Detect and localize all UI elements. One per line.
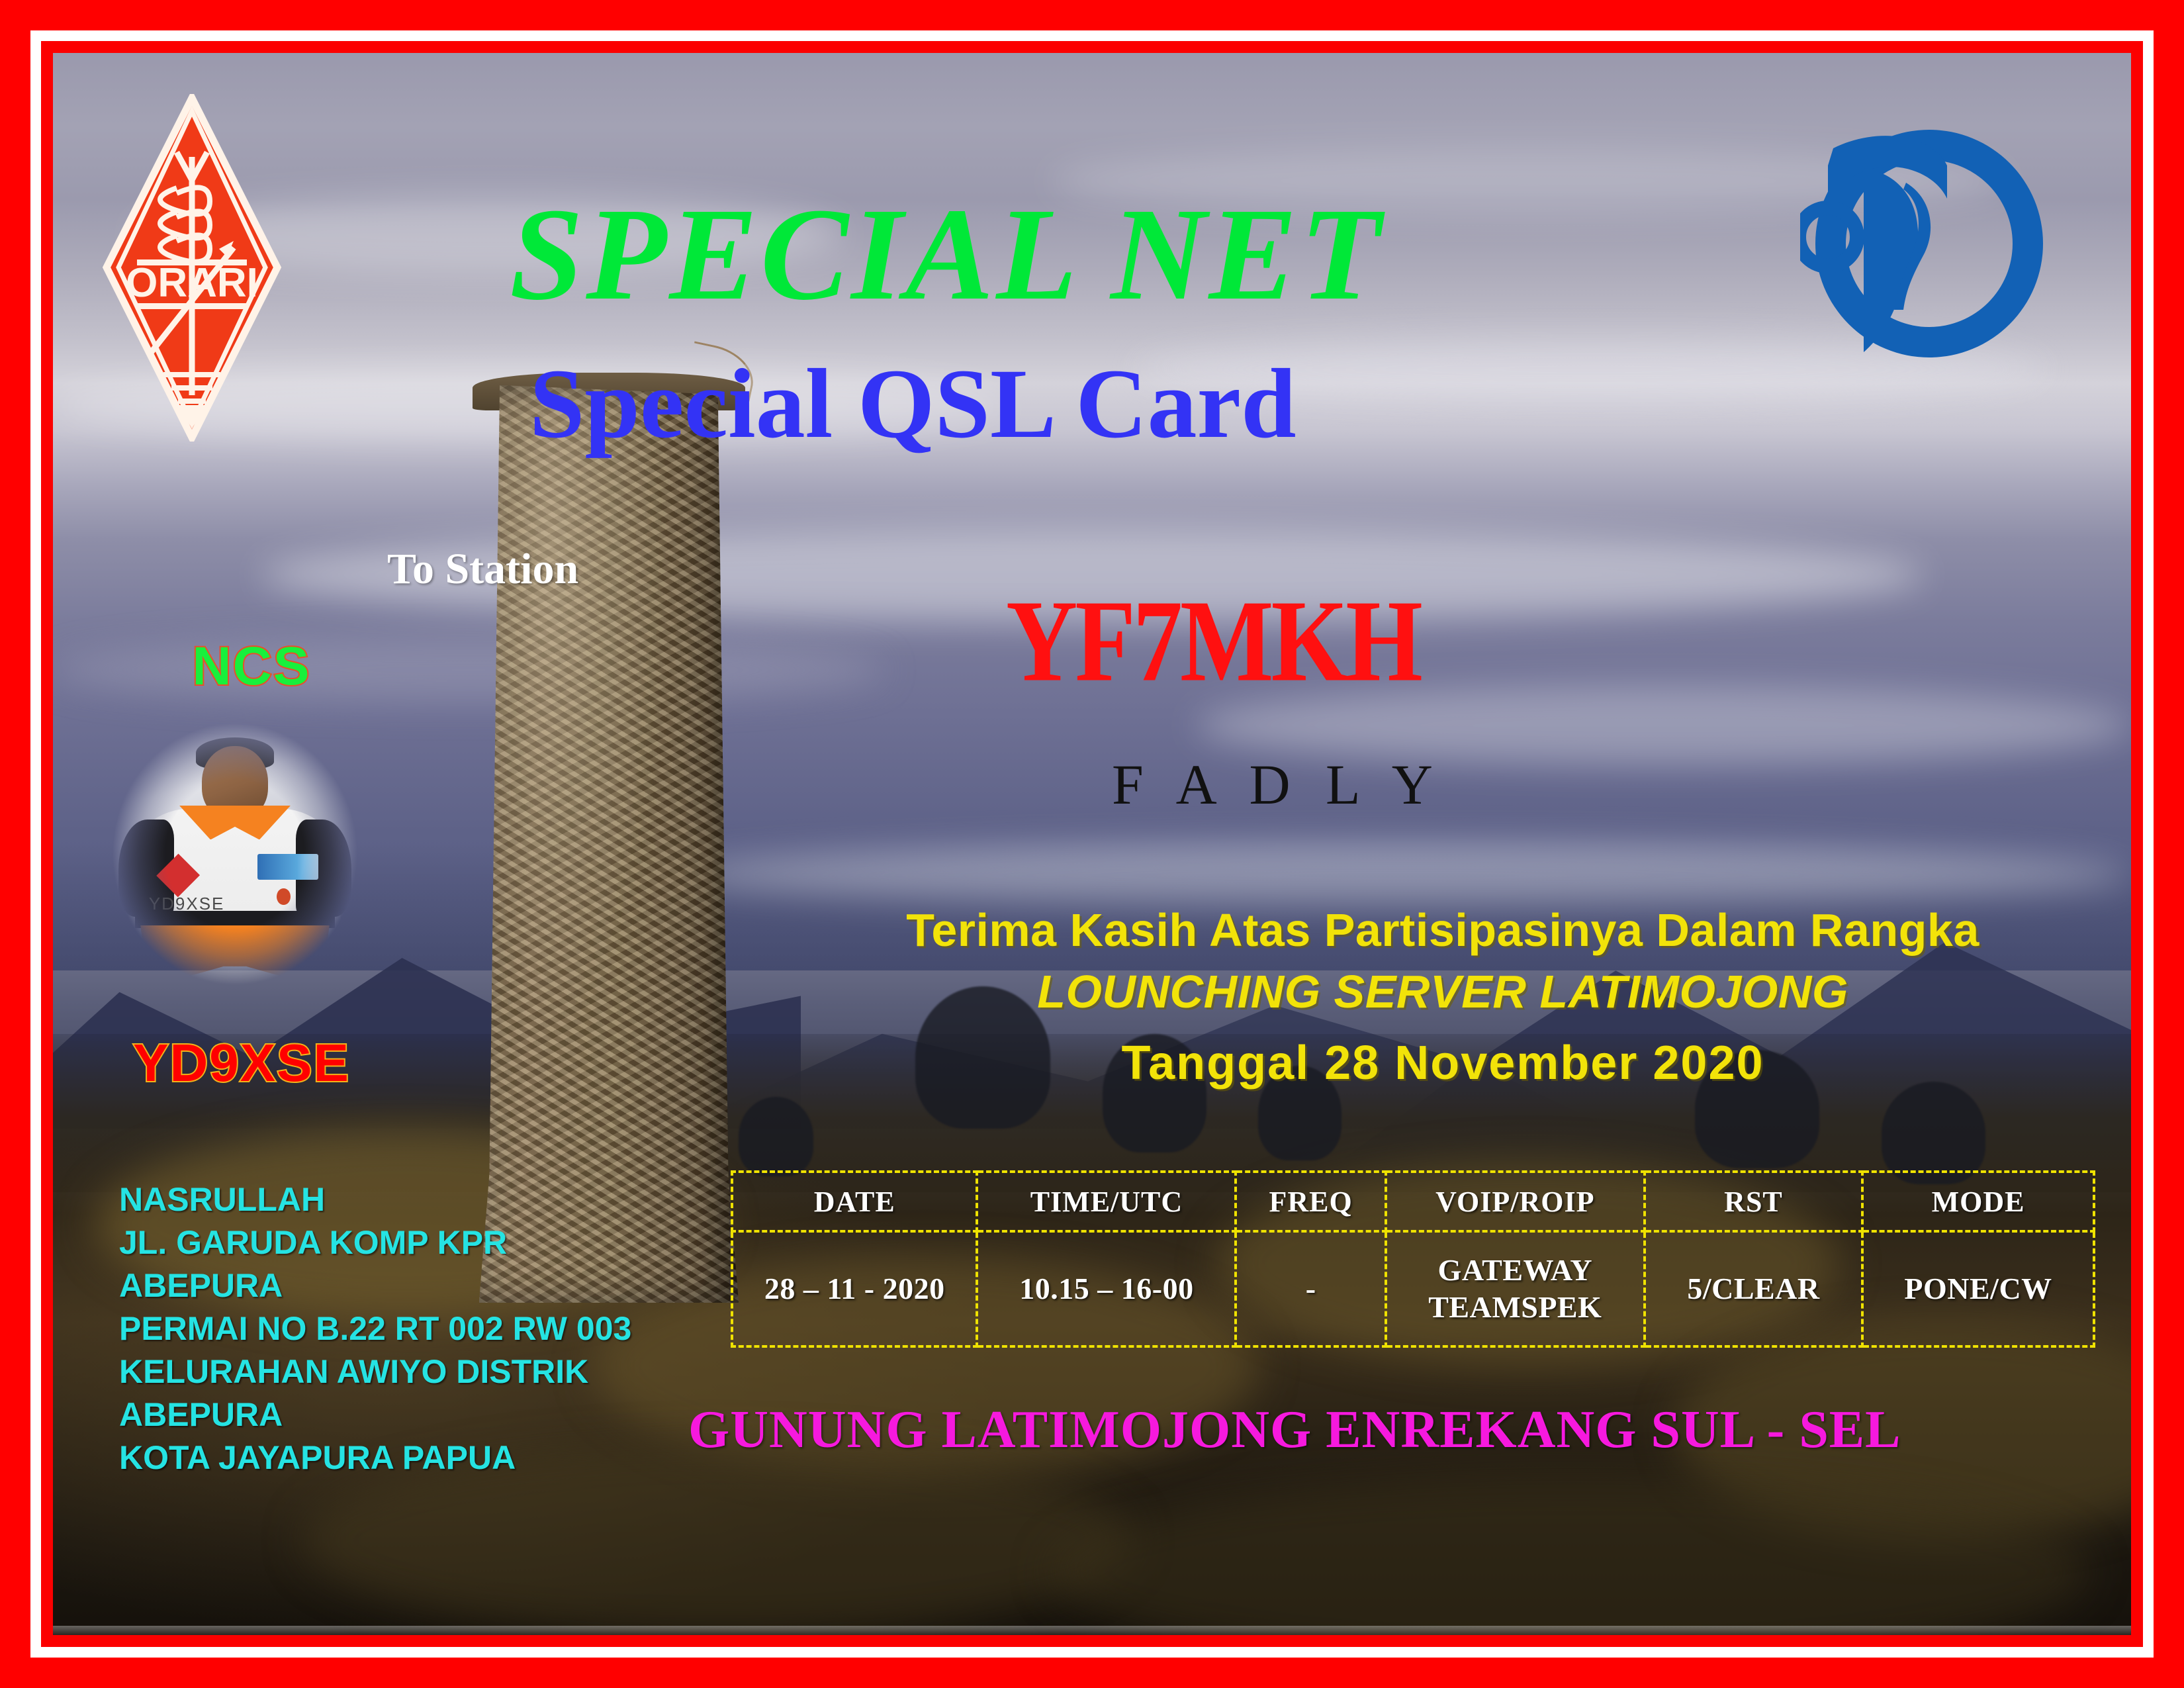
event-thanks-line: Terima Kasih Atas Partisipasinya Dalam R… (801, 904, 2085, 957)
photo-bottom-shade (53, 1626, 2131, 1635)
cell-rst: 5/CLEAR (1645, 1231, 1862, 1346)
event-message: Terima Kasih Atas Partisipasinya Dalam R… (801, 904, 2085, 1100)
radio-headphone-logo (1800, 119, 2052, 367)
station-callsign: YF7MKH (1006, 583, 1668, 700)
event-date-line: Tanggal 28 November 2020 (801, 1027, 2085, 1101)
column-header-date: DATE (732, 1172, 977, 1231)
to-station-label: To Station (387, 544, 578, 594)
ncs-label: NCS (119, 635, 384, 698)
column-header-rst: RST (1645, 1172, 1862, 1231)
qsl-card: ORARI SPECIAL NET Special QSL Card To St… (0, 0, 2184, 1688)
page-title-special-net: SPECIAL NET (510, 189, 1767, 321)
return-address: NASRULLAH JL. GARUDA KOMP KPR ABEPURA PE… (119, 1178, 668, 1479)
column-header-voip: VOIP/ROIP (1386, 1172, 1645, 1231)
tree-silhouette (739, 1097, 813, 1176)
operator-avatar: YD9XSE (96, 712, 374, 996)
address-line: NASRULLAH (119, 1178, 668, 1221)
cell-freq: - (1236, 1231, 1385, 1346)
table-row: 28 – 11 - 2020 10.15 – 16-00 - GATEWAY T… (732, 1231, 2094, 1346)
address-line: KELURAHAN AWIYO DISTRIK (119, 1350, 668, 1393)
address-line: ABEPURA (119, 1393, 668, 1436)
card-photo-background: ORARI SPECIAL NET Special QSL Card To St… (53, 53, 2131, 1635)
orari-logo: ORARI (103, 94, 281, 442)
cell-voip-line2: TEAMSPEK (1428, 1290, 1602, 1324)
avatar-chest-badge (257, 854, 318, 880)
event-name-line: LOUNCHING SERVER LATIMOJONG (801, 957, 2085, 1027)
page-subtitle-qsl-card: Special QSL Card (529, 354, 1787, 453)
column-header-time: TIME/UTC (977, 1172, 1236, 1231)
stone-monument-pillar (479, 385, 739, 1303)
column-header-mode: MODE (1862, 1172, 2094, 1231)
cell-date: 28 – 11 - 2020 (732, 1231, 977, 1346)
orari-logo-text: ORARI (126, 260, 258, 306)
address-line: JL. GARUDA KOMP KPR (119, 1221, 668, 1264)
address-line: KOTA JAYAPURA PAPUA (119, 1436, 668, 1479)
cell-mode: PONE/CW (1862, 1231, 2094, 1346)
avatar-lanyard-reel (277, 888, 291, 906)
qso-log-table: DATE TIME/UTC FREQ VOIP/ROIP RST MODE 28… (731, 1170, 2095, 1348)
column-header-freq: FREQ (1236, 1172, 1385, 1231)
avatar-shirt-callsign: YD9XSE (149, 894, 225, 914)
operator-name: F A D L Y (1112, 751, 1707, 818)
location-text: GUNUNG LATIMOJONG ENREKANG SUL - SEL (688, 1400, 2078, 1460)
address-line: PERMAI NO B.22 RT 002 RW 003 (119, 1307, 668, 1350)
table-header-row: DATE TIME/UTC FREQ VOIP/ROIP RST MODE (732, 1172, 2094, 1231)
ncs-callsign: YD9XSE (99, 1033, 384, 1094)
address-line: ABEPURA (119, 1264, 668, 1307)
cell-time: 10.15 – 16-00 (977, 1231, 1236, 1346)
cell-voip: GATEWAY TEAMSPEK (1386, 1231, 1645, 1346)
cell-voip-line1: GATEWAY (1438, 1253, 1593, 1287)
